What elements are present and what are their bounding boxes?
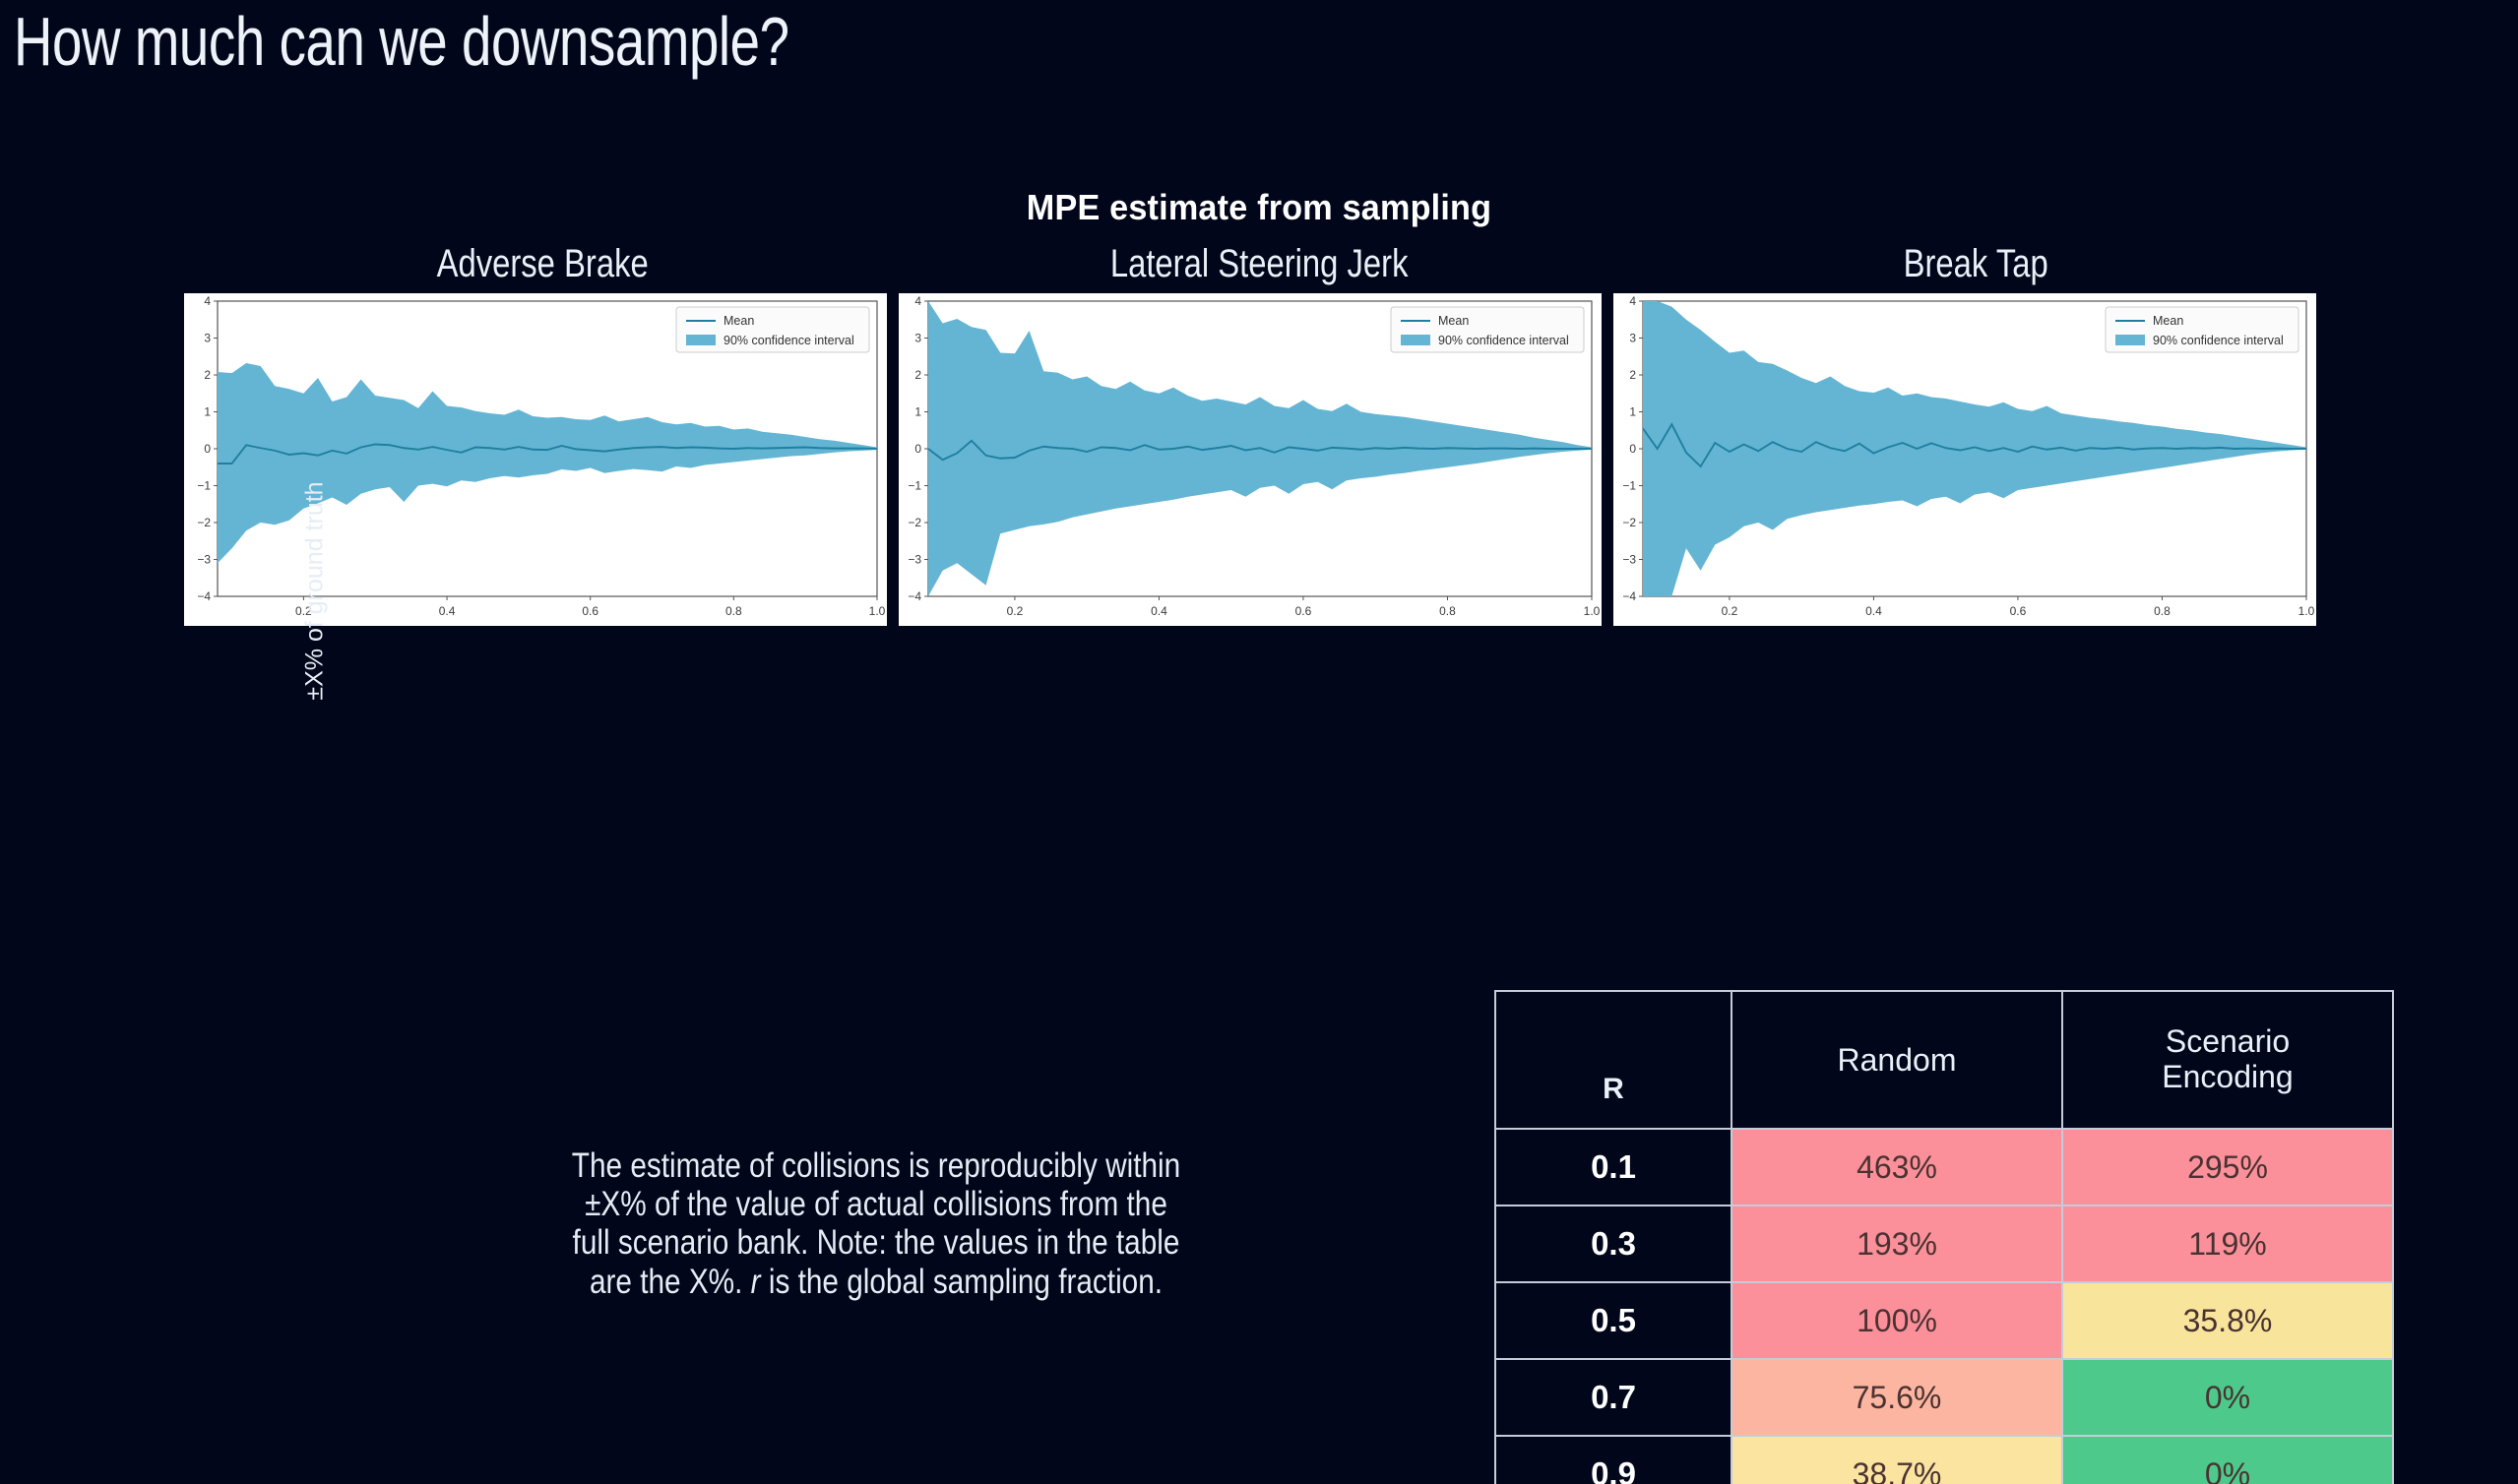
figure-container: MPE estimate from sampling Adverse Brake… <box>0 187 2518 626</box>
svg-text:−2: −2 <box>1622 516 1636 529</box>
table-header-row: R Random Scenario Encoding <box>1495 991 2393 1129</box>
description-line-4-part-a: are the X%. <box>590 1263 751 1301</box>
svg-text:Mean: Mean <box>2153 314 2183 328</box>
y-axis-label-text: ±X% of ground truth <box>301 481 330 700</box>
description-line-1: The estimate of collisions is reproducib… <box>408 1146 1345 1185</box>
svg-text:1.0: 1.0 <box>1583 604 1600 618</box>
column-header-random: Random <box>1731 991 2062 1129</box>
svg-text:3: 3 <box>204 332 211 345</box>
description-line-4: are the X%. r is the global sampling fra… <box>408 1263 1345 1301</box>
svg-text:2: 2 <box>914 368 921 382</box>
svg-text:90% confidence interval: 90% confidence interval <box>2153 334 2284 347</box>
svg-text:−3: −3 <box>197 553 211 567</box>
svg-text:1: 1 <box>204 405 211 419</box>
svg-text:4: 4 <box>1629 294 1636 308</box>
description-symbol-r: r <box>751 1263 761 1301</box>
svg-text:3: 3 <box>914 332 921 345</box>
description-line-2: ±X% of the value of actual collisions fr… <box>408 1185 1345 1223</box>
svg-text:−1: −1 <box>908 479 921 493</box>
table-cell-r: 0.9 <box>1495 1436 1731 1484</box>
chart-svg-adverse-brake: −4−3−2−1012340.20.40.60.81.0Mean90% conf… <box>184 293 887 626</box>
description-paragraph: The estimate of collisions is reproducib… <box>408 1146 1345 1301</box>
svg-text:0: 0 <box>914 442 921 456</box>
description-line-3: full scenario bank. Note: the values in … <box>408 1223 1345 1262</box>
svg-text:4: 4 <box>914 294 921 308</box>
table-cell-random: 100% <box>1731 1282 2062 1359</box>
chart-panel-break-tap: −4−3−2−1012340.20.40.60.81.0Mean90% conf… <box>1613 293 2316 626</box>
svg-text:0.4: 0.4 <box>1865 604 1882 618</box>
description-line-4-part-b: is the global sampling fraction. <box>761 1263 1163 1301</box>
column-header-scenario-line2: Encoding <box>2067 1060 2388 1095</box>
table-body: 0.1463%295%0.3193%119%0.5100%35.8%0.775.… <box>1495 1129 2393 1484</box>
svg-text:1.0: 1.0 <box>2298 604 2314 618</box>
column-header-scenario-encoding: Scenario Encoding <box>2062 991 2393 1129</box>
page-title: How much can we downsample? <box>14 2 789 81</box>
column-header-r: R <box>1495 991 1731 1129</box>
table-cell-scenario-encoding: 295% <box>2062 1129 2393 1206</box>
chart-panel-adverse-brake: −4−3−2−1012340.20.40.60.81.0Mean90% conf… <box>184 293 887 626</box>
svg-text:0.4: 0.4 <box>438 604 455 618</box>
results-table: R Random Scenario Encoding 0.1463%295%0.… <box>1494 990 2394 1484</box>
table-row: 0.3193%119% <box>1495 1206 2393 1282</box>
svg-text:0.2: 0.2 <box>1006 604 1023 618</box>
table-row: 0.938.7%0% <box>1495 1436 2393 1484</box>
panel-title-break-tap: Break Tap <box>1682 242 2270 293</box>
table-cell-random: 193% <box>1731 1206 2062 1282</box>
table-cell-scenario-encoding: 0% <box>2062 1436 2393 1484</box>
svg-text:0.8: 0.8 <box>1439 604 1456 618</box>
svg-text:0.4: 0.4 <box>1151 604 1167 618</box>
table-cell-random: 38.7% <box>1731 1436 2062 1484</box>
svg-text:1: 1 <box>914 405 921 419</box>
svg-text:−1: −1 <box>197 479 211 493</box>
svg-text:Mean: Mean <box>1438 314 1469 328</box>
svg-text:90% confidence interval: 90% confidence interval <box>724 334 854 347</box>
table-row: 0.5100%35.8% <box>1495 1282 2393 1359</box>
svg-text:2: 2 <box>1629 368 1636 382</box>
chart-panels-row: −4−3−2−1012340.20.40.60.81.0Mean90% conf… <box>184 293 2335 626</box>
column-header-scenario-line1: Scenario <box>2067 1024 2388 1060</box>
svg-text:−4: −4 <box>197 589 211 603</box>
table-cell-scenario-encoding: 119% <box>2062 1206 2393 1282</box>
y-axis-label: ±X% of ground truth <box>295 364 335 817</box>
table-cell-r: 0.7 <box>1495 1359 1731 1436</box>
table-cell-random: 75.6% <box>1731 1359 2062 1436</box>
svg-text:0.8: 0.8 <box>2154 604 2171 618</box>
svg-text:0.6: 0.6 <box>582 604 598 618</box>
svg-text:0.2: 0.2 <box>1721 604 1737 618</box>
svg-text:−2: −2 <box>197 516 211 529</box>
chart-svg-lateral-steering-jerk: −4−3−2−1012340.20.40.60.81.0Mean90% conf… <box>899 293 1602 626</box>
panel-title-row: Adverse Brake Lateral Steering Jerk Brea… <box>184 242 2335 293</box>
table-row: 0.775.6%0% <box>1495 1359 2393 1436</box>
svg-text:1: 1 <box>1629 405 1636 419</box>
svg-text:Mean: Mean <box>724 314 754 328</box>
svg-text:3: 3 <box>1629 332 1636 345</box>
svg-text:−1: −1 <box>1622 479 1636 493</box>
svg-text:−4: −4 <box>908 589 921 603</box>
panel-title-adverse-brake: Adverse Brake <box>248 242 836 293</box>
svg-text:−3: −3 <box>1622 553 1636 567</box>
svg-text:0: 0 <box>1629 442 1636 456</box>
svg-text:2: 2 <box>204 368 211 382</box>
table-cell-r: 0.1 <box>1495 1129 1731 1206</box>
table-cell-r: 0.5 <box>1495 1282 1731 1359</box>
chart-panel-lateral-steering-jerk: −4−3−2−1012340.20.40.60.81.0Mean90% conf… <box>899 293 1602 626</box>
svg-text:4: 4 <box>204 294 211 308</box>
svg-text:0.6: 0.6 <box>1294 604 1311 618</box>
svg-text:−4: −4 <box>1622 589 1636 603</box>
table-cell-random: 463% <box>1731 1129 2062 1206</box>
figure-suptitle: MPE estimate from sampling <box>63 187 2455 228</box>
chart-svg-break-tap: −4−3−2−1012340.20.40.60.81.0Mean90% conf… <box>1613 293 2316 626</box>
table-cell-scenario-encoding: 0% <box>2062 1359 2393 1436</box>
svg-text:−3: −3 <box>908 553 921 567</box>
svg-text:1.0: 1.0 <box>868 604 885 618</box>
panel-title-lateral-steering-jerk: Lateral Steering Jerk <box>965 242 1552 293</box>
svg-text:−2: −2 <box>908 516 921 529</box>
svg-text:0.6: 0.6 <box>2009 604 2026 618</box>
table-row: 0.1463%295% <box>1495 1129 2393 1206</box>
table-cell-scenario-encoding: 35.8% <box>2062 1282 2393 1359</box>
svg-text:0.8: 0.8 <box>725 604 742 618</box>
svg-text:90% confidence interval: 90% confidence interval <box>1438 334 1569 347</box>
svg-text:0: 0 <box>204 442 211 456</box>
table-cell-r: 0.3 <box>1495 1206 1731 1282</box>
